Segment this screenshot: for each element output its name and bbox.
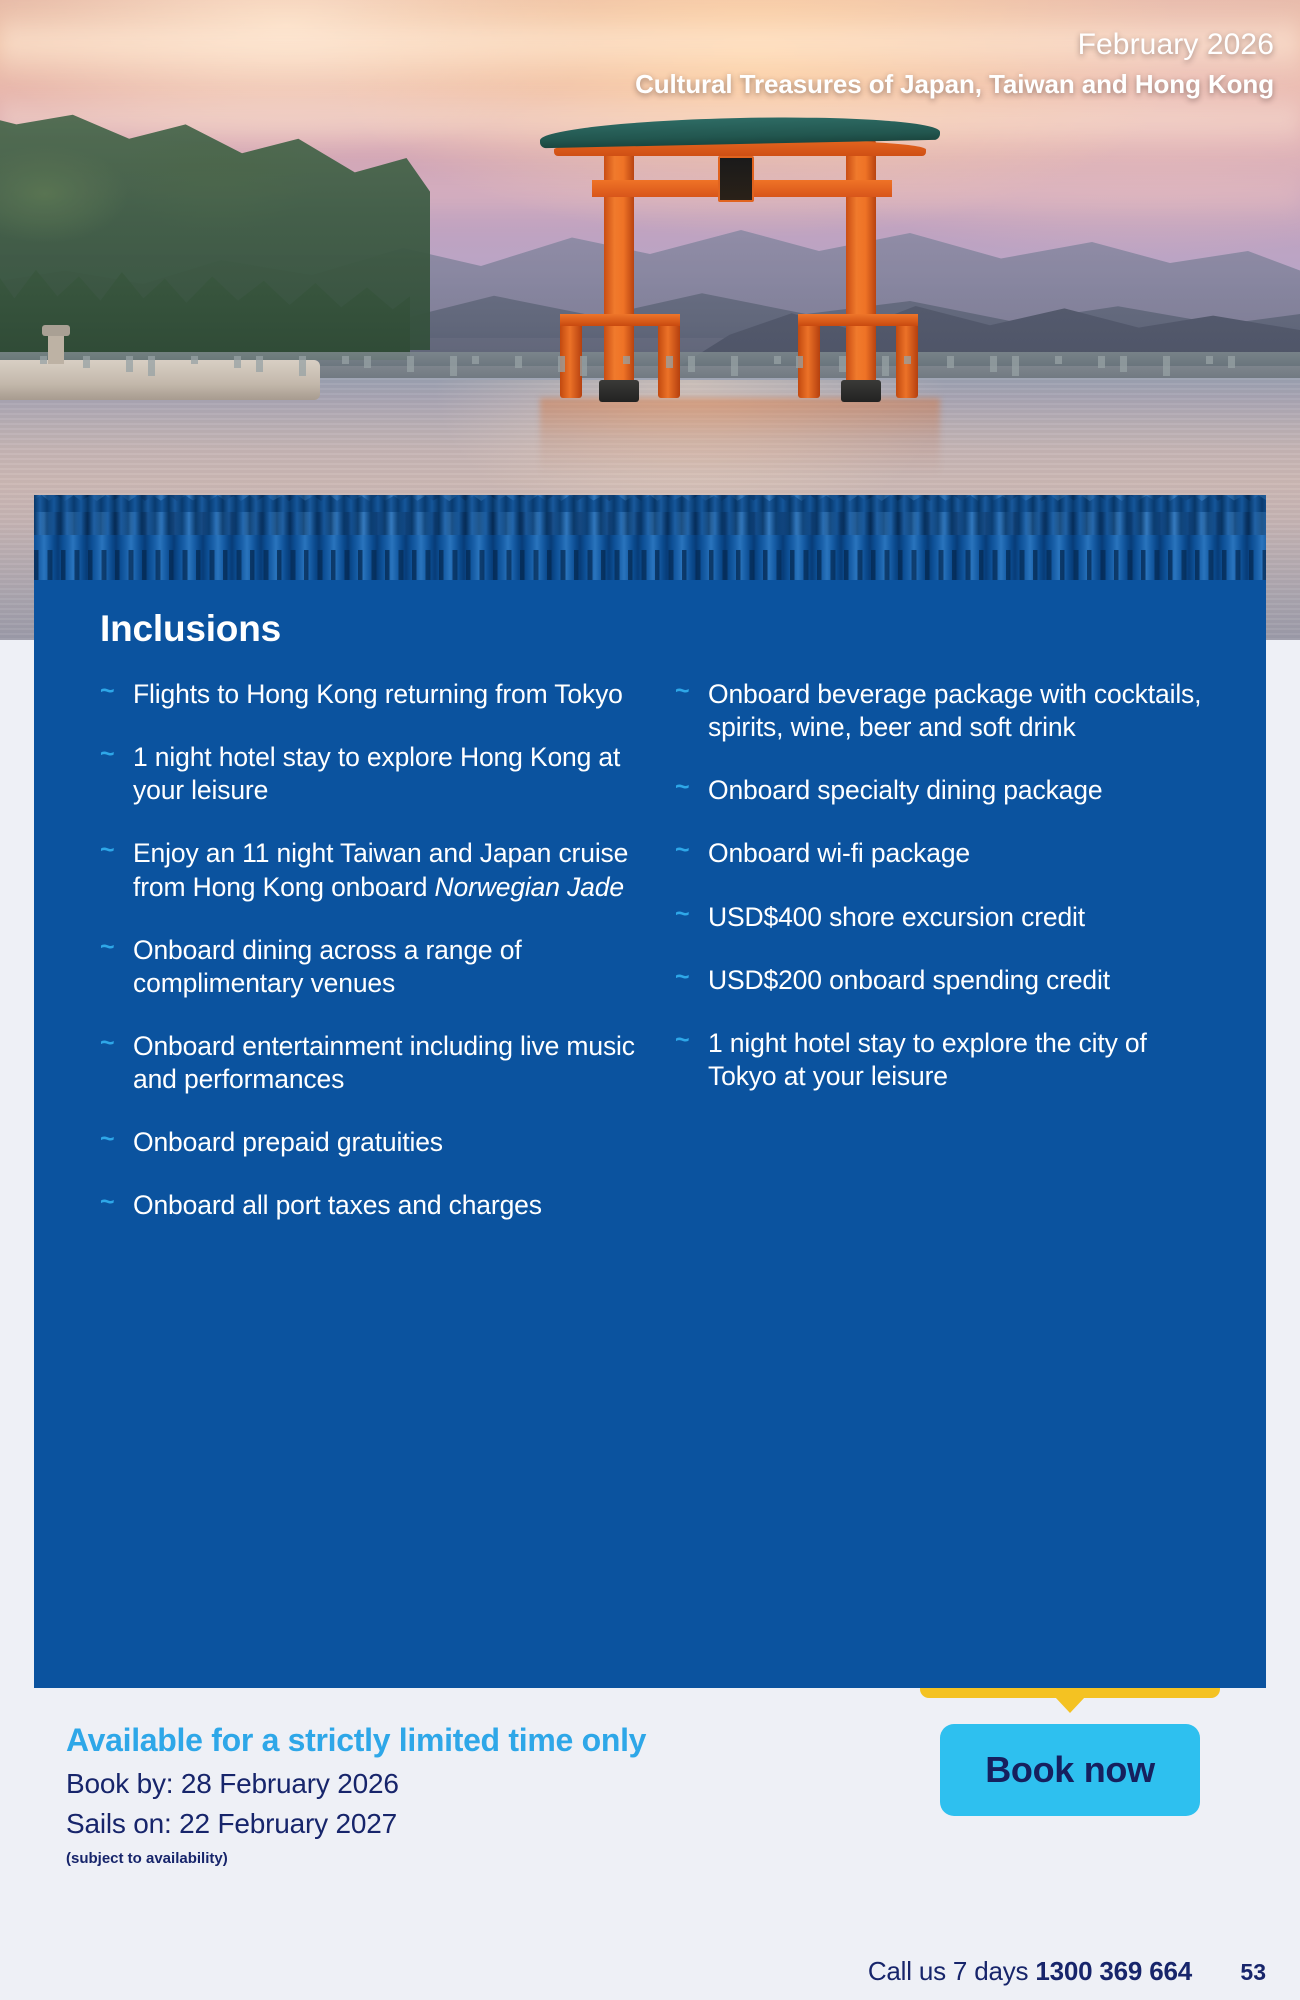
inclusion-item: ~1 night hotel stay to explore Hong Kong… [100, 741, 635, 807]
bottom-section: Available for a strictly limited time on… [0, 1688, 1300, 2000]
torii-tie-beam [798, 314, 918, 326]
inclusion-item: ~Onboard dining across a range of compli… [100, 934, 635, 1000]
inclusion-text: 1 night hotel stay to explore Hong Kong … [133, 741, 635, 807]
shoreline-building [904, 356, 911, 364]
inclusion-item: ~Onboard beverage package with cocktails… [675, 678, 1210, 744]
shoreline-building [1206, 356, 1213, 364]
shoreline-building [364, 356, 371, 368]
promo-headline: Available for a strictly limited time on… [66, 1722, 646, 1759]
shoreline-building [407, 356, 414, 372]
torii-gate-icon [540, 118, 940, 398]
inclusion-item: ~Onboard specialty dining package [675, 774, 1210, 807]
call-prefix: Call us 7 days [868, 1956, 1036, 1986]
inclusion-text: USD$400 shore excursion credit [708, 901, 1085, 934]
shoreline-building [558, 356, 565, 372]
book-now-button[interactable]: Book now [940, 1724, 1200, 1816]
shoreline-building [990, 356, 997, 372]
ruffle-shadow [34, 550, 1266, 580]
inclusion-text: Onboard prepaid gratuities [133, 1126, 443, 1159]
phone-number[interactable]: 1300 369 664 [1035, 1956, 1192, 1986]
inclusion-text: Onboard all port taxes and charges [133, 1189, 542, 1222]
shoreline-building [774, 356, 781, 364]
shoreline-building [1055, 356, 1062, 364]
shoreline-building [450, 356, 457, 376]
inclusion-text: Onboard wi-fi package [708, 837, 970, 870]
inclusion-item: ~Enjoy an 11 night Taiwan and Japan crui… [100, 837, 635, 903]
inclusion-item: ~Flights to Hong Kong returning from Tok… [100, 678, 635, 711]
stone-lantern [48, 334, 64, 364]
inclusions-panel: Inclusions ~Flights to Hong Kong returni… [34, 578, 1266, 1688]
shoreline-building [666, 356, 673, 368]
torii-right-pillar [846, 140, 876, 396]
inclusions-columns: ~Flights to Hong Kong returning from Tok… [100, 678, 1210, 1252]
tilde-bullet-icon: ~ [675, 1027, 693, 1093]
hero-caption: February 2026 Cultural Treasures of Japa… [635, 28, 1274, 100]
tilde-bullet-icon: ~ [100, 1189, 118, 1222]
shoreline-building [839, 356, 846, 372]
book-by-date: Book by: 28 February 2026 [66, 1768, 399, 1800]
ruffle-fabric [34, 495, 1266, 580]
shoreline-building [731, 356, 738, 376]
shoreline-building [1163, 356, 1170, 376]
book-now-label: Book now [985, 1749, 1155, 1791]
shoreline-building [796, 356, 803, 368]
tilde-bullet-icon: ~ [100, 1030, 118, 1096]
torii-reflection [540, 398, 940, 476]
inclusion-text: Onboard entertainment including live mus… [133, 1030, 635, 1096]
tilde-bullet-icon: ~ [675, 774, 693, 807]
shoreline-building [1012, 356, 1019, 376]
inclusion-text: 1 night hotel stay to explore the city o… [708, 1027, 1210, 1093]
shoreline-building [126, 356, 133, 372]
inclusion-text: Onboard beverage package with cocktails,… [708, 678, 1210, 744]
call-us-line: Call us 7 days 1300 369 664 [868, 1956, 1192, 1987]
shoreline-building [83, 356, 90, 368]
inclusion-item: ~Onboard all port taxes and charges [100, 1189, 635, 1222]
inclusions-right-column: ~Onboard beverage package with cocktails… [675, 678, 1210, 1252]
page-title: Cultural Treasures of Japan, Taiwan and … [635, 69, 1274, 100]
shoreline-building [148, 356, 155, 376]
tilde-bullet-icon: ~ [100, 741, 118, 807]
inclusion-text: Flights to Hong Kong returning from Toky… [133, 678, 623, 711]
inclusion-item: ~Onboard prepaid gratuities [100, 1126, 635, 1159]
torii-base [599, 380, 639, 402]
inclusion-item: ~USD$400 shore excursion credit [675, 901, 1210, 934]
shoreline-building [191, 356, 198, 364]
inclusion-item: ~1 night hotel stay to explore the city … [675, 1027, 1210, 1093]
shoreline-building [623, 356, 630, 364]
tilde-bullet-icon: ~ [675, 678, 693, 744]
page-number: 53 [1240, 1959, 1266, 1986]
inclusions-left-column: ~Flights to Hong Kong returning from Tok… [100, 678, 635, 1252]
tilde-bullet-icon: ~ [675, 901, 693, 934]
tilde-bullet-icon: ~ [675, 837, 693, 870]
shoreline-building [234, 356, 241, 368]
tilde-bullet-icon: ~ [100, 1126, 118, 1159]
inclusion-item: ~Onboard entertainment including live mu… [100, 1030, 635, 1096]
ruffle-teeth [34, 495, 1266, 512]
inclusion-text: USD$200 onboard spending credit [708, 964, 1110, 997]
availability-disclaimer: (subject to availability) [66, 1850, 228, 1867]
inclusion-text: Onboard dining across a range of complim… [133, 934, 635, 1000]
stone-pier [0, 360, 320, 400]
inclusion-text: Enjoy an 11 night Taiwan and Japan cruis… [133, 837, 635, 903]
tilde-bullet-icon: ~ [100, 837, 118, 903]
shoreline-building [882, 356, 889, 376]
torii-base [841, 380, 881, 402]
shoreline-building [947, 356, 954, 368]
inclusion-item: ~Onboard wi-fi package [675, 837, 1210, 870]
tilde-bullet-icon: ~ [100, 678, 118, 711]
shoreline-building [1120, 356, 1127, 372]
shoreline-building [688, 356, 695, 372]
ruffled-banner-edge [34, 495, 1266, 580]
shoreline-building [580, 356, 587, 376]
inclusions-heading: Inclusions [100, 608, 281, 650]
shoreline-building [1098, 356, 1105, 368]
torii-plaque [718, 156, 754, 202]
shoreline-building [472, 356, 479, 364]
shoreline-building [1228, 356, 1235, 368]
shoreline-building [515, 356, 522, 368]
inclusion-item: ~USD$200 onboard spending credit [675, 964, 1210, 997]
ship-name: Norwegian Jade [435, 872, 624, 902]
departure-month: February 2026 [635, 28, 1274, 63]
shoreline-building [40, 356, 47, 364]
torii-tie-beam [560, 314, 680, 326]
tilde-bullet-icon: ~ [100, 934, 118, 1000]
shoreline-building [342, 356, 349, 364]
shoreline-building [299, 356, 306, 376]
tilde-bullet-icon: ~ [675, 964, 693, 997]
sails-on-date: Sails on: 22 February 2027 [66, 1808, 397, 1840]
shoreline-building [256, 356, 263, 372]
inclusion-text: Onboard specialty dining package [708, 774, 1102, 807]
